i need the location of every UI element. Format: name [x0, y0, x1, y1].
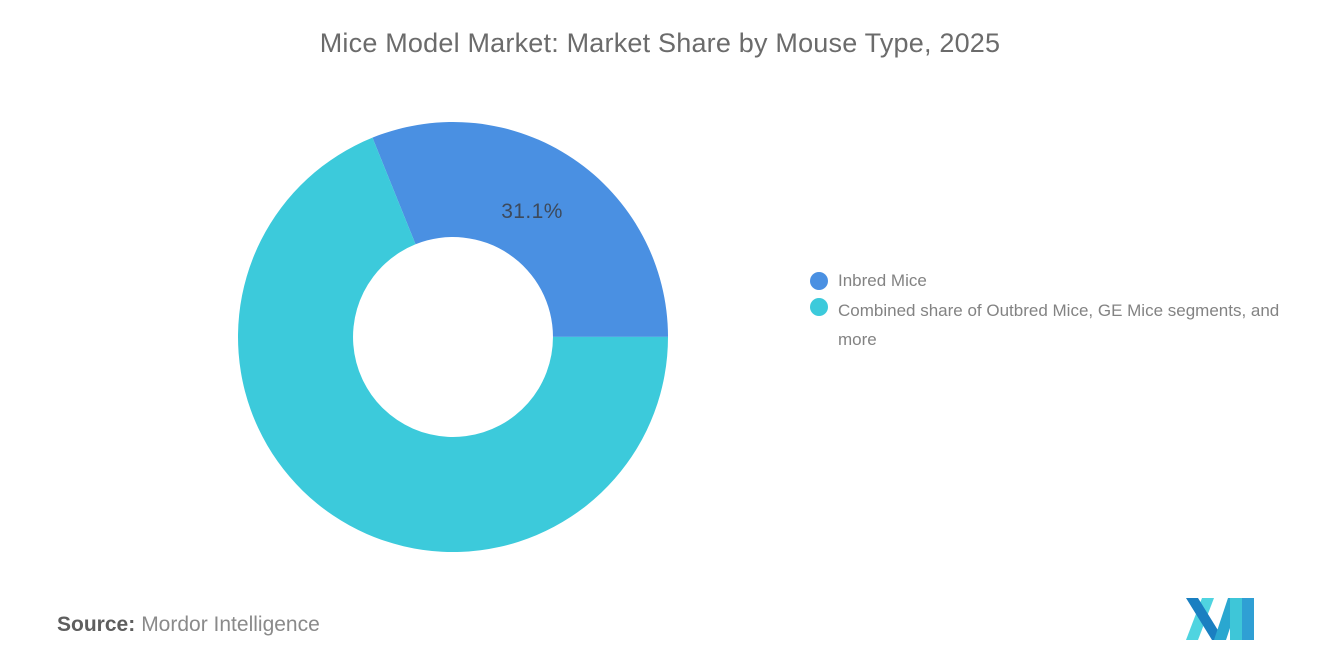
legend-swatch-icon [810, 272, 828, 290]
chart-legend: Inbred Mice Combined share of Outbred Mi… [810, 270, 1300, 358]
legend-item-combined-share[interactable]: Combined share of Outbred Mice, GE Mice … [810, 296, 1300, 354]
source-value: Mordor Intelligence [141, 613, 320, 636]
legend-item-label: Combined share of Outbred Mice, GE Mice … [838, 296, 1288, 354]
donut-slice[interactable] [372, 122, 668, 337]
donut-chart [238, 122, 668, 552]
legend-swatch-icon [810, 298, 828, 316]
donut-chart-svg [238, 122, 668, 552]
source-line: Source:Mordor Intelligence [57, 613, 320, 637]
chart-canvas: Mice Model Market: Market Share by Mouse… [0, 0, 1320, 665]
page-title: Mice Model Market: Market Share by Mouse… [0, 28, 1320, 59]
donut-slice-group [238, 122, 668, 552]
logo-svg [1184, 596, 1258, 640]
source-label: Source: [57, 613, 135, 636]
mordor-intelligence-logo-icon [1184, 596, 1258, 640]
legend-item-inbred-mice[interactable]: Inbred Mice [810, 270, 1300, 292]
legend-item-label: Inbred Mice [838, 270, 927, 292]
